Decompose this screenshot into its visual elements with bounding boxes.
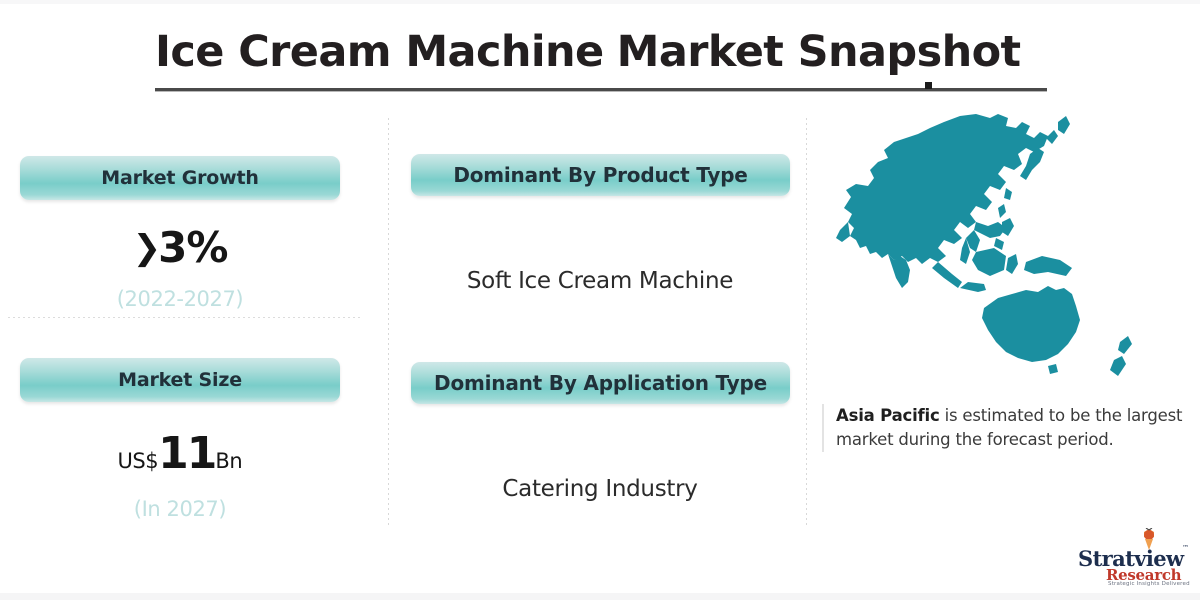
page-title: Ice Cream Machine Market Snapshot: [155, 26, 1047, 78]
top-edge-strip: [0, 0, 1200, 4]
market-growth-value-block: ❯3% (2022-2027): [20, 224, 340, 311]
infographic-page: Ice Cream Machine Market Snapshot Market…: [0, 0, 1200, 600]
market-size-value: US$11Bn: [20, 432, 340, 485]
dominant-product-type-value: Soft Ice Cream Machine: [400, 268, 800, 294]
market-size-pill-label: Market Size: [118, 369, 242, 391]
dominant-application-type-pill-label: Dominant By Application Type: [434, 371, 767, 395]
logo-trademark-icon: ™: [1182, 544, 1189, 552]
market-growth-value: ❯3%: [20, 224, 340, 275]
title-underline: [155, 88, 1047, 92]
dominant-application-type-value: Catering Industry: [400, 476, 800, 502]
market-size-period: (In 2027): [20, 497, 340, 521]
page-title-part-one: Ice Cream Machine: [155, 27, 604, 77]
dominant-application-type-pill: Dominant By Application Type: [411, 362, 790, 404]
region-note: Asia Pacific is estimated to be the larg…: [822, 404, 1184, 452]
page-title-part-two: Market Snapshot: [617, 27, 1021, 77]
stratview-research-logo[interactable]: Stratview ™ Research Strategic Insights …: [1078, 528, 1200, 590]
dominant-product-type-pill-label: Dominant By Product Type: [453, 163, 747, 187]
market-size-currency: US$: [118, 449, 159, 473]
market-size-value-block: US$11Bn (In 2027): [20, 432, 340, 521]
bottom-edge-strip: [0, 593, 1200, 600]
logo-tagline: Strategic Insights Delivered: [1108, 581, 1190, 587]
market-growth-number: 3%: [158, 223, 227, 272]
column-divider-right: [806, 118, 807, 526]
dominant-product-type-pill: Dominant By Product Type: [411, 154, 790, 196]
greater-than-icon: ❯: [133, 228, 159, 268]
asia-pacific-map: [826, 112, 1190, 400]
market-size-pill: Market Size: [20, 358, 340, 402]
market-growth-pill: Market Growth: [20, 156, 340, 200]
market-size-unit: Bn: [215, 449, 242, 473]
market-size-number: 11: [158, 428, 215, 479]
left-column-divider: [8, 317, 360, 318]
market-growth-pill-label: Market Growth: [101, 167, 258, 189]
title-tick-marker: [925, 82, 932, 89]
title-area: Ice Cream Machine Market Snapshot: [155, 26, 1047, 78]
column-divider-left: [388, 118, 389, 526]
market-growth-period: (2022-2027): [20, 287, 340, 311]
region-note-highlight: Asia Pacific: [836, 406, 940, 425]
